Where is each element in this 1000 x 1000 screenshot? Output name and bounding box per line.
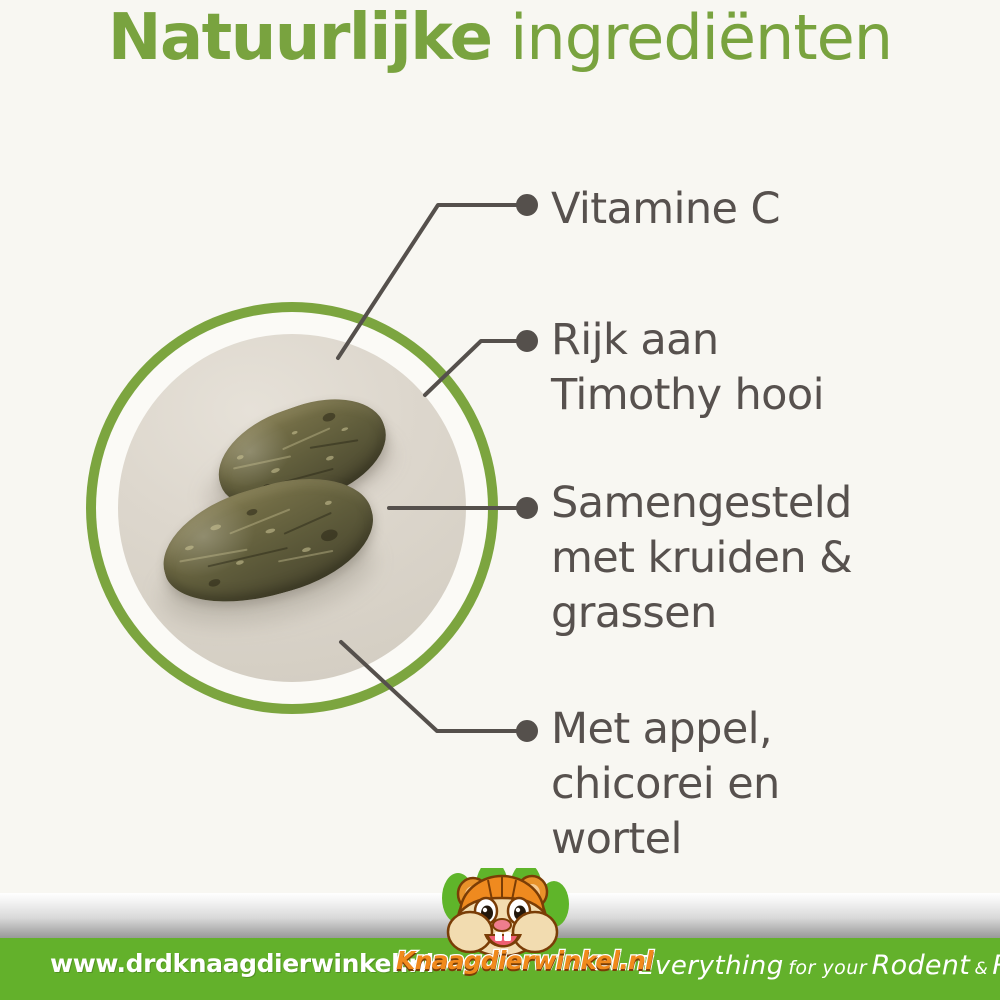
brand-logo[interactable]: Knaagdierwinkel.nl	[396, 868, 608, 986]
callout-line: Met appel,	[551, 702, 780, 757]
product-photo	[118, 334, 466, 682]
tagline-word-rodent: Rodent	[872, 950, 971, 981]
callout-line: Rijk aan	[551, 313, 824, 368]
tagline-word-everything: Everything	[638, 951, 784, 981]
callout-line: Timothy hooi	[551, 368, 824, 423]
product-image-circle	[86, 302, 498, 714]
callout-line: grassen	[551, 586, 852, 641]
footer-tagline: Everything for your Rodent & Rabbit!	[638, 950, 1000, 981]
leader-dot-3	[518, 499, 536, 517]
tagline-word-foryour: for your	[788, 957, 867, 979]
callout-label-timothy-hooi: Rijk aan Timothy hooi	[551, 313, 824, 423]
callout-label-vitamine-c: Vitamine C	[551, 182, 780, 237]
callout-line: Samengesteld	[551, 476, 852, 531]
infographic-page: Natuurlijke ingrediënten	[0, 0, 1000, 1000]
callout-label-appel-chicorei: Met appel, chicorei en wortel	[551, 702, 780, 867]
product-circle-inner-gap	[96, 312, 488, 704]
tagline-word-ampersand: &	[975, 959, 988, 979]
tagline-word-rabbit: Rabbit!	[992, 950, 1000, 981]
callout-label-kruiden-grassen: Samengesteld met kruiden & grassen	[551, 476, 852, 641]
leader-dot-2	[518, 332, 536, 350]
callout-line: wortel	[551, 812, 780, 867]
page-title: Natuurlijke ingrediënten	[0, 6, 1000, 70]
callout-line: met kruiden &	[551, 531, 852, 586]
leader-dot-1	[518, 196, 536, 214]
logo-wordmark: Knaagdierwinkel.nl	[396, 946, 608, 975]
footer-website-url[interactable]: www.drdknaagdierwinkel.nl	[50, 949, 434, 978]
leader-dot-4	[518, 722, 536, 740]
page-title-light: ingrediënten	[491, 1, 892, 74]
callout-line: chicorei en	[551, 757, 780, 812]
page-title-bold: Natuurlijke	[108, 1, 492, 75]
callout-line: Vitamine C	[551, 182, 780, 237]
